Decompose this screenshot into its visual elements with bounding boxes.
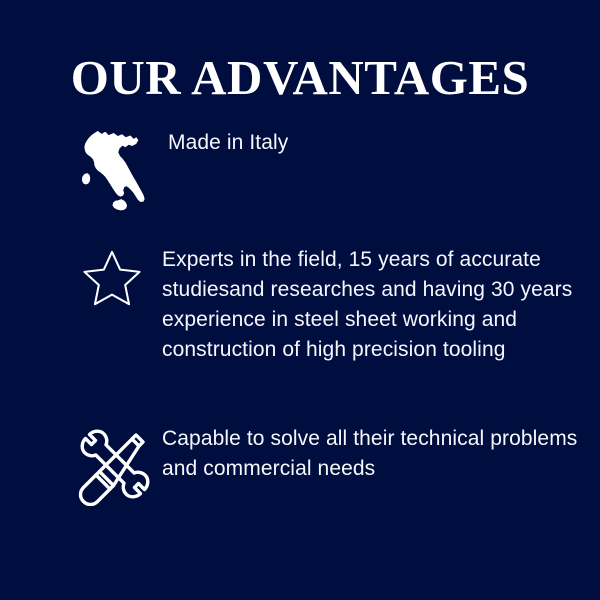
italy-map-icon (62, 128, 162, 220)
advantages-slide: OUR ADVANTAGES Made in Italy Experts in … (0, 0, 600, 600)
wrench-screwdriver-icon (62, 424, 162, 506)
advantage-text: Capable to solve all their technical pro… (162, 424, 600, 484)
list-item: Made in Italy (0, 128, 600, 220)
advantage-text: Made in Italy (162, 128, 600, 158)
page-title: OUR ADVANTAGES (0, 52, 600, 103)
list-item: Experts in the field, 15 years of accura… (0, 245, 600, 365)
advantage-text: Experts in the field, 15 years of accura… (162, 245, 600, 365)
list-item: Capable to solve all their technical pro… (0, 424, 600, 506)
star-icon (62, 245, 162, 313)
